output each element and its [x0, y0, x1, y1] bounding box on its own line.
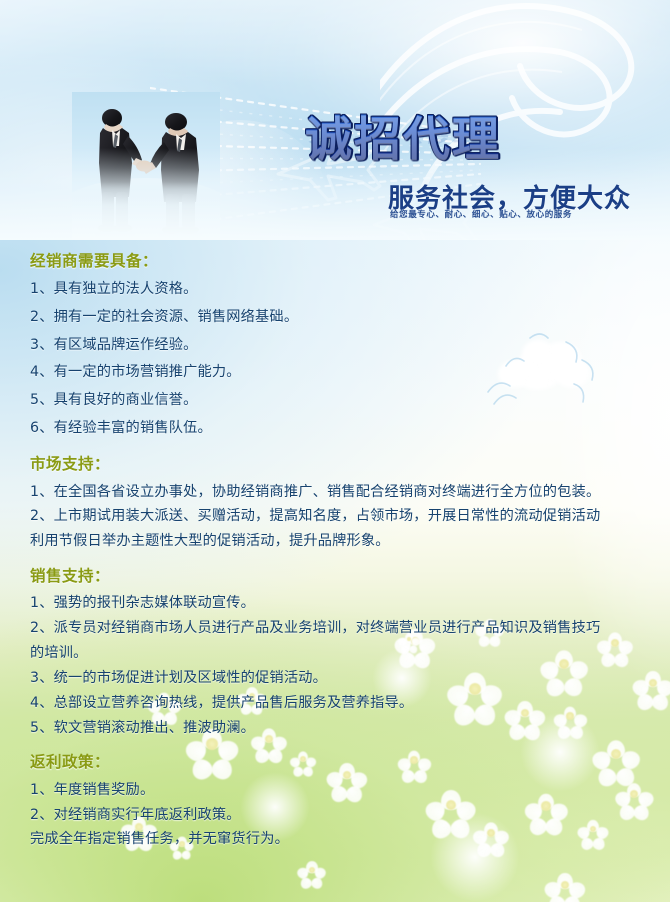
- list-item: 6、有经验丰富的销售队伍。: [30, 415, 654, 443]
- section-title: 经销商需要具备：: [30, 250, 654, 273]
- section-dealer-requirements: 经销商需要具备： 1、具有独立的法人资格。 2、拥有一定的社会资源、销售网络基础…: [30, 250, 654, 442]
- list-item: 4、有一定的市场营销推广能力。: [30, 359, 654, 387]
- list-item: 3、有区域品牌运作经验。: [30, 332, 654, 360]
- list-item: 5、软文营销滚动推出、推波助澜。: [30, 716, 654, 741]
- list-item: 1、具有独立的法人资格。: [30, 276, 654, 304]
- list-item: 1、年度销售奖励。: [30, 778, 654, 803]
- list-item: 完成全年指定销售任务，并无窜货行为。: [30, 827, 654, 852]
- content-area: 经销商需要具备： 1、具有独立的法人资格。 2、拥有一定的社会资源、销售网络基础…: [0, 240, 670, 902]
- list-item: 3、统一的市场促进计划及区域性的促销活动。: [30, 666, 654, 691]
- list-item: 2、上市期试用装大派送、买赠活动，提高知名度，占领市场，开展日常性的流动促销活动: [30, 504, 654, 529]
- section-sales-support: 销售支持： 1、强势的报刊杂志媒体联动宣传。 2、派专员对经销商市场人员进行产品…: [30, 565, 654, 740]
- list-item: 4、总部设立营养咨询热线，提供产品售后服务及营养指导。: [30, 691, 654, 716]
- banner-tagline: 给您最专心、耐心、细心、贴心、放心的服务: [390, 208, 572, 220]
- list-item: 1、在全国各省设立办事处，协助经销商推广、销售配合经销商对终端进行全方位的包装。: [30, 480, 654, 505]
- list-item: 的培训。: [30, 641, 654, 666]
- section-title: 返利政策：: [30, 751, 654, 774]
- list-item: 5、具有良好的商业信誉。: [30, 387, 654, 415]
- list-item: 2、拥有一定的社会资源、销售网络基础。: [30, 304, 654, 332]
- list-item: 利用节假日举办主题性大型的促销活动，提升品牌形象。: [30, 529, 654, 554]
- poster-root: 诚招代理 诚招代理 服务社会，方便大众 给您最专心、耐心、细心、贴心、放心的服务…: [0, 0, 670, 902]
- list-item: 2、对经销商实行年底返利政策。: [30, 803, 654, 828]
- section-rebate-policy: 返利政策： 1、年度销售奖励。 2、对经销商实行年底返利政策。 完成全年指定销售…: [30, 751, 654, 852]
- section-title: 市场支持：: [30, 453, 654, 476]
- section-market-support: 市场支持： 1、在全国各省设立办事处，协助经销商推广、销售配合经销商对终端进行全…: [30, 453, 654, 554]
- list-item: 2、派专员对经销商市场人员进行产品及业务培训，对终端营业员进行产品知识及销售技巧: [30, 616, 654, 641]
- list-item: 1、强势的报刊杂志媒体联动宣传。: [30, 591, 654, 616]
- hero-banner: 诚招代理 诚招代理 服务社会，方便大众 给您最专心、耐心、细心、贴心、放心的服务: [0, 0, 670, 240]
- section-title: 销售支持：: [30, 565, 654, 588]
- banner-headline: 诚招代理: [305, 100, 501, 169]
